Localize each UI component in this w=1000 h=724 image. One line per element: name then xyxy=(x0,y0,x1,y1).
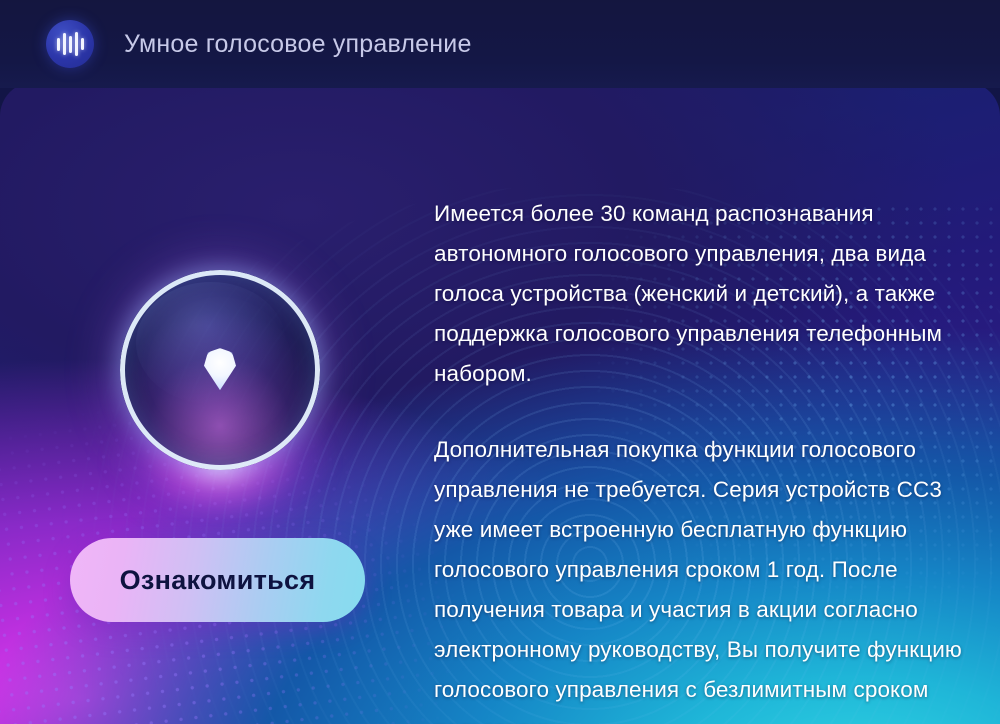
page-title: Умное голосовое управление xyxy=(124,30,472,59)
waveform-bar xyxy=(63,33,66,55)
learn-more-button[interactable]: Ознакомиться xyxy=(70,538,365,622)
page-header: Умное голосовое управление xyxy=(0,0,1000,88)
voice-waveform-icon xyxy=(46,20,94,68)
waveform-bar xyxy=(81,38,84,50)
waveform-bar xyxy=(57,38,60,51)
paragraph-2: Дополнительная покупка функции голосовог… xyxy=(434,430,968,724)
paragraph-1: Имеется более 30 команд распознавания ав… xyxy=(434,194,968,394)
promo-page: Умное голосовое управление Ознакомиться … xyxy=(0,0,1000,724)
waveform-bar xyxy=(69,36,72,53)
waveform-bar xyxy=(75,32,78,56)
voice-orb xyxy=(120,270,320,470)
description-text: Имеется более 30 команд распознавания ав… xyxy=(434,194,968,724)
hero-card: Ознакомиться Имеется более 30 команд рас… xyxy=(0,82,1000,724)
